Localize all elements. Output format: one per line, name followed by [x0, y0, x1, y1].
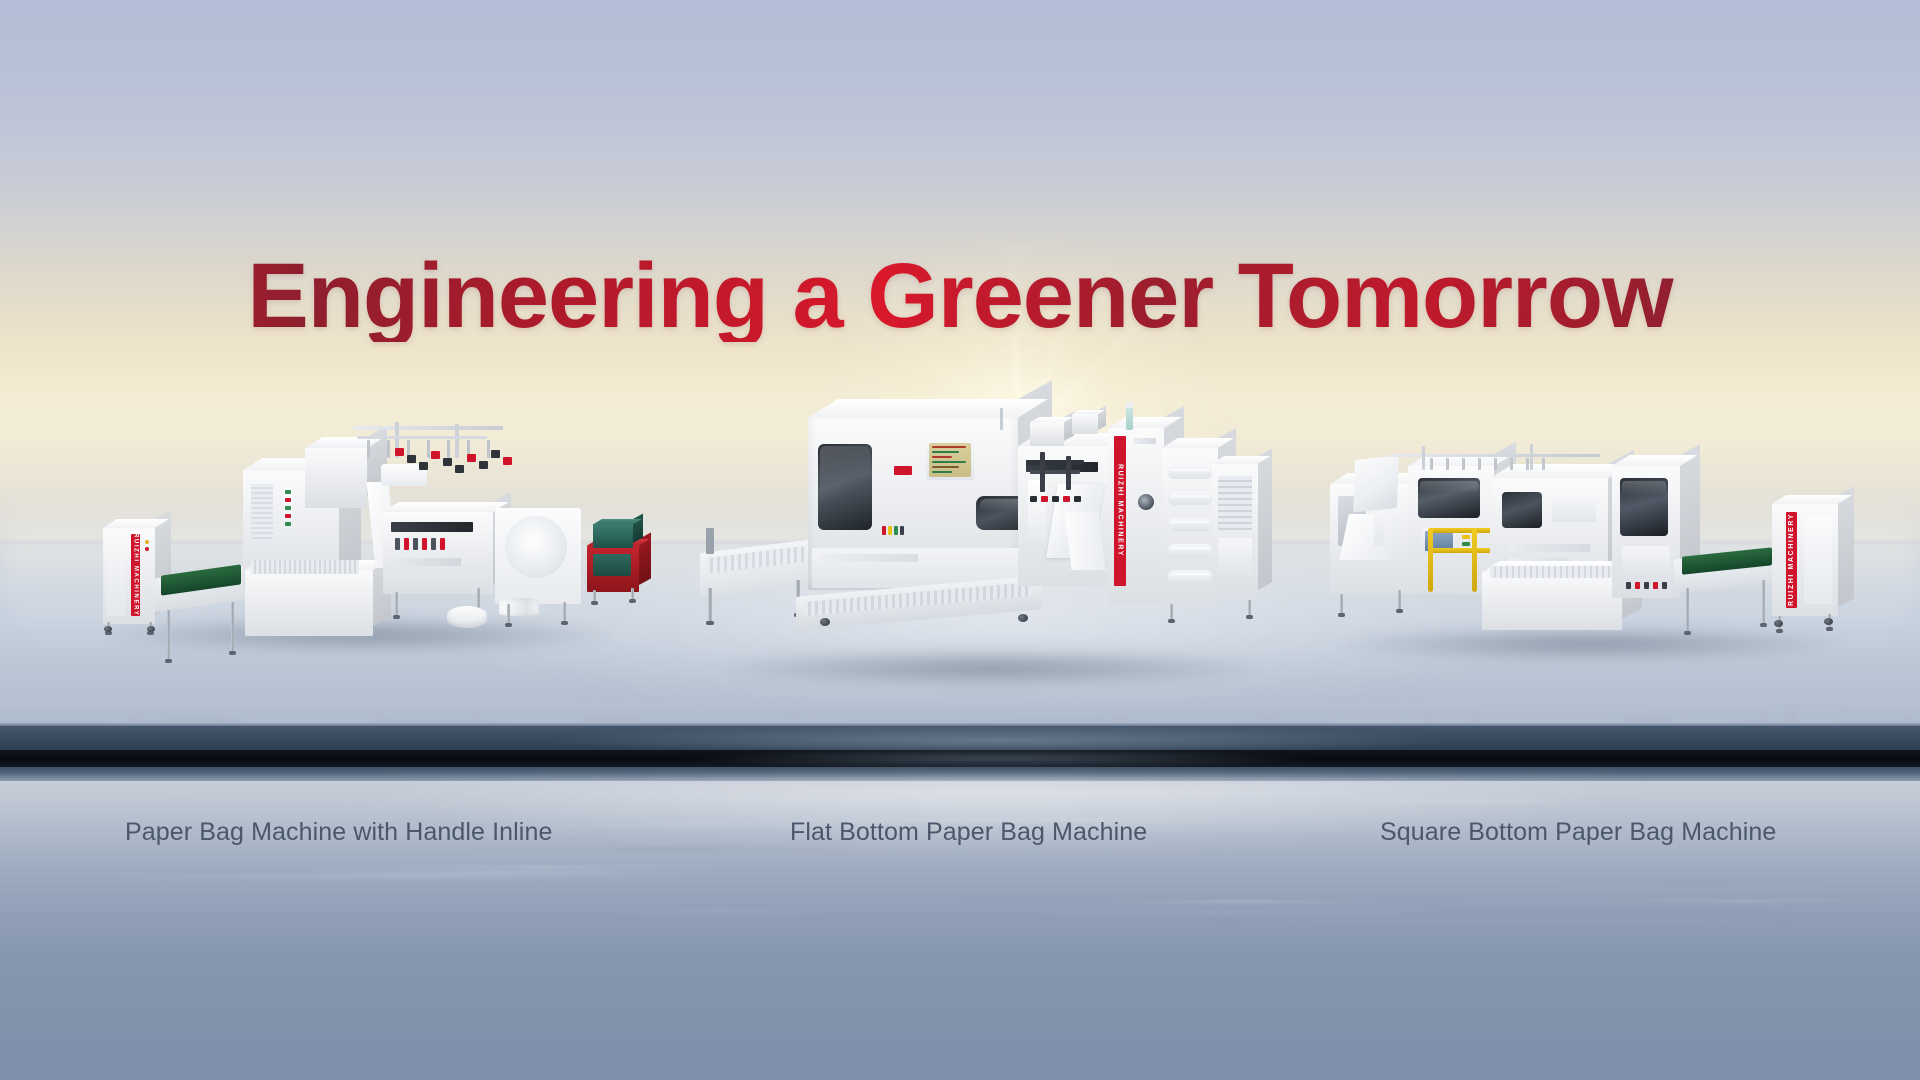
machine-group-flat-bottom: RUIZHI MACHINERY: [700, 400, 1280, 650]
control-tower: [1612, 466, 1680, 598]
base-plinth: [245, 570, 373, 636]
branded-column: RUIZHI MACHINERY: [1108, 428, 1164, 604]
sealing-unit: [383, 512, 493, 594]
roller-tower: [1162, 448, 1218, 604]
brand-label: RUIZHI MACHINERY: [1117, 464, 1124, 557]
red-unit: [587, 546, 639, 592]
brand-band: RUIZHI MACHINERY: [1786, 512, 1797, 608]
brand-label: RUIZHI MACHINERY: [1788, 513, 1795, 606]
machine-lineup: RUIZHI MACHINERYRUIZHI MACHINERYRUIZHI M…: [0, 0, 1920, 732]
machine-box: [1030, 422, 1064, 446]
caption-square-bottom-paper-bag-machine: Square Bottom Paper Bag Machine: [1380, 818, 1776, 847]
machine-box: [593, 524, 633, 548]
page-title: Engineering a Greener Tomorrow: [0, 250, 1920, 342]
rear-unit: [1212, 464, 1258, 598]
upper-housing: [305, 448, 367, 508]
machine-box: [1072, 414, 1098, 434]
platform-edge: [0, 723, 1920, 781]
main-body: [808, 418, 1018, 590]
machine-group-square-bottom: RUIZHI MACHINERY: [1330, 432, 1850, 652]
brand-band: RUIZHI MACHINERY: [131, 534, 140, 616]
brand-label: RUIZHI MACHINERY: [133, 533, 139, 616]
caption-paper-bag-machine-with-handle-inline: Paper Bag Machine with Handle Inline: [125, 818, 552, 847]
machine-group-handle-inline: RUIZHI MACHINERY: [95, 420, 655, 650]
hero-banner: RUIZHI MACHINERYRUIZHI MACHINERYRUIZHI M…: [0, 0, 1920, 1080]
output-cabinet: RUIZHI MACHINERY: [1772, 504, 1838, 616]
base-box: [1482, 572, 1622, 630]
caption-flat-bottom-paper-bag-machine: Flat Bottom Paper Bag Machine: [790, 818, 1147, 847]
paper-roll: [505, 516, 567, 578]
brand-band: RUIZHI MACHINERY: [1114, 436, 1126, 586]
control-cabinet: RUIZHI MACHINERY: [103, 528, 155, 624]
caption-row: Paper Bag Machine with Handle Inline Fla…: [0, 818, 1920, 858]
